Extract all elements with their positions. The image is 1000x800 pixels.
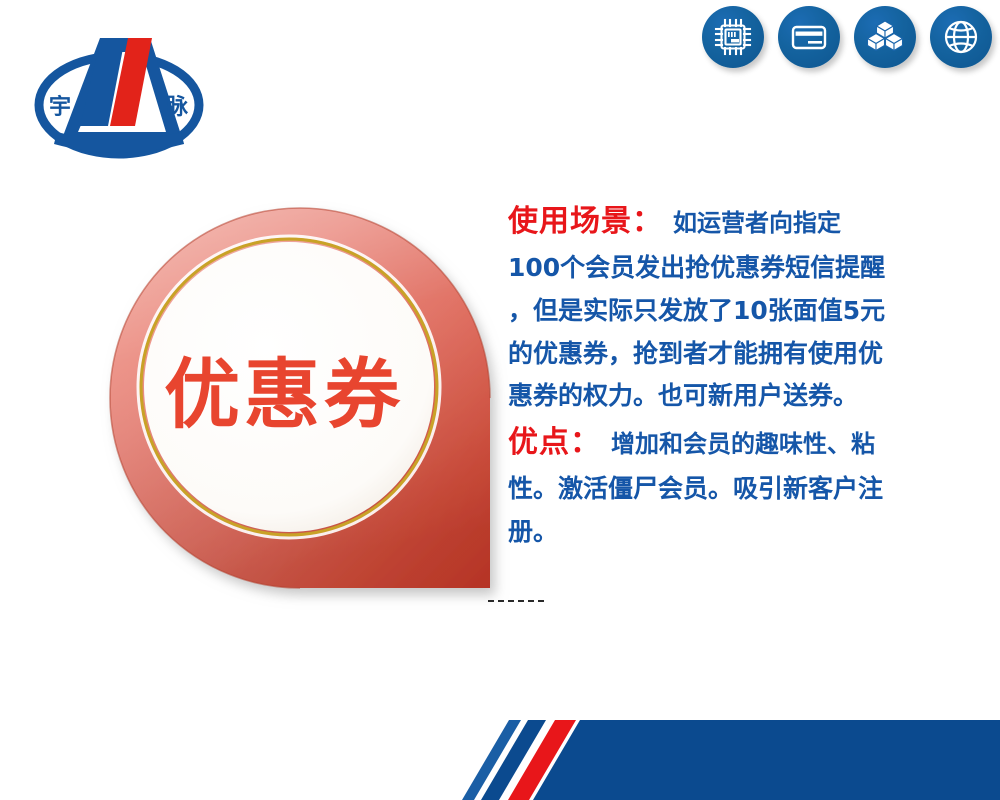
scenario-line-0-text: 如运营者向指定	[673, 209, 841, 237]
top-icon-row	[702, 6, 992, 68]
logo-char-right: 脉	[165, 95, 189, 120]
advantage-lead: 优点：	[508, 425, 601, 460]
advantage-line-0-text: 增加和会员的趣味性、粘	[611, 430, 875, 458]
bottom-banner	[0, 720, 1000, 800]
advantage-line-1: 性。激活僵尸会员。吸引新客户注	[508, 471, 978, 508]
content-copy: 使用场景：如运营者向指定 100个会员发出抢优惠券短信提醒 ，但是实际只发放了1…	[508, 200, 978, 557]
yumai-logo-icon: 宇 脉	[24, 22, 214, 162]
cpu-chip-icon[interactable]	[702, 6, 764, 68]
cube-blocks-icon[interactable]	[854, 6, 916, 68]
scenario-line-1: 100个会员发出抢优惠券短信提醒	[508, 250, 978, 287]
scenario-line-3: 的优惠券，抢到者才能拥有使用优	[508, 336, 978, 373]
logo-char-left: 宇	[49, 95, 71, 120]
scenario-lead: 使用场景：	[508, 204, 663, 239]
scenario-line-4: 惠券的权力。也可新用户送券。	[508, 378, 978, 415]
pin-connector-dashed-line	[488, 600, 544, 602]
globe-icon[interactable]	[930, 6, 992, 68]
brand-logo: 宇 脉	[24, 22, 214, 162]
coupon-pin-graphic	[92, 190, 522, 620]
coupon-pin	[92, 190, 522, 620]
scenario-line-2: ，但是实际只发放了10张面值5元	[508, 293, 978, 330]
credit-card-icon[interactable]	[778, 6, 840, 68]
slide-canvas: 宇 脉	[0, 0, 1000, 800]
scenario-line-0: 使用场景：如运营者向指定	[508, 200, 978, 244]
bottom-banner-graphic	[0, 720, 1000, 800]
advantage-line-2: 册。	[508, 514, 978, 551]
advantage-line-0: 优点：增加和会员的趣味性、粘	[508, 421, 978, 465]
